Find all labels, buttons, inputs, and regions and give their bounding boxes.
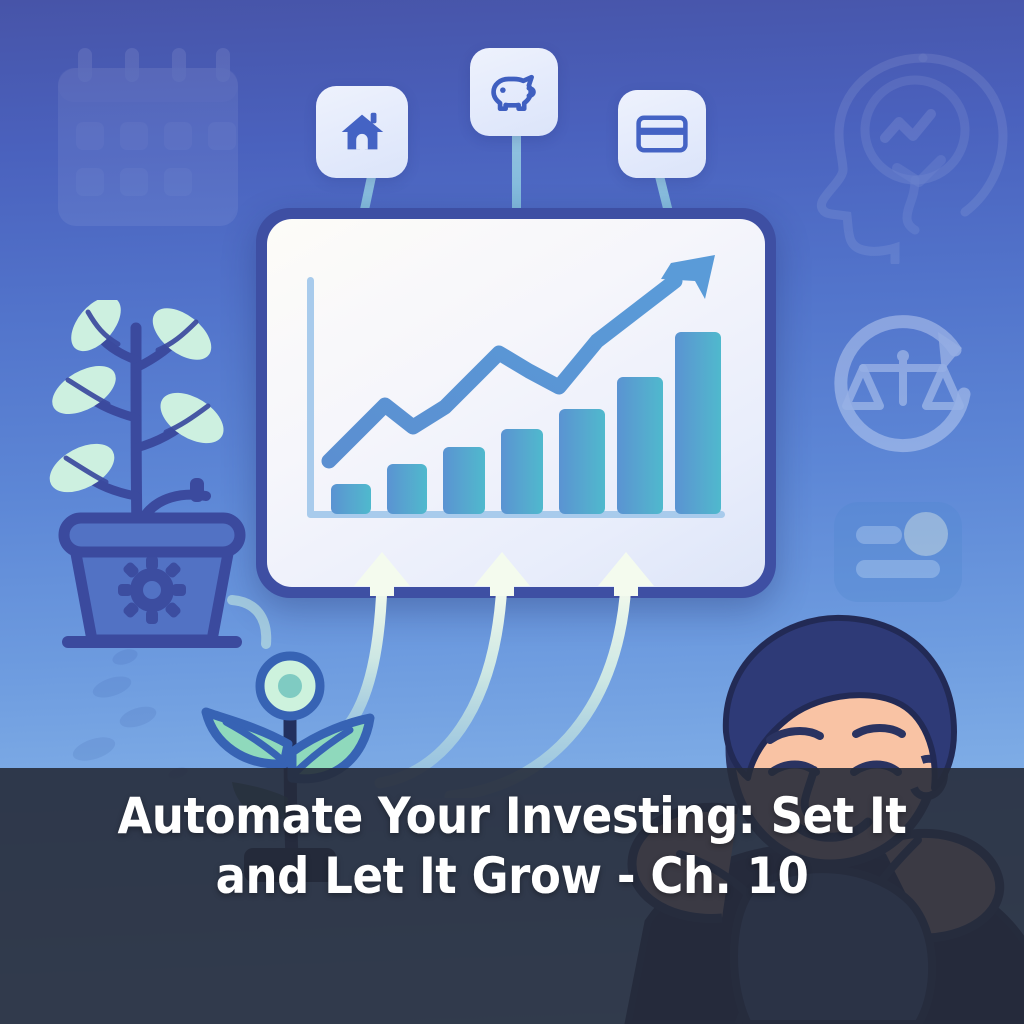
chart-plot-area — [267, 219, 765, 587]
gear-icon — [118, 556, 186, 624]
profile-card-icon — [832, 498, 964, 606]
illustration-canvas: Automate Your Investing: Set It and Let … — [0, 0, 1024, 1024]
credit-card-icon-badge[interactable] — [618, 90, 706, 178]
pin-home[interactable] — [316, 86, 412, 216]
home-icon-badge[interactable] — [316, 86, 408, 178]
home-icon — [335, 105, 389, 159]
piggy-bank-icon — [486, 66, 542, 118]
potted-plant-with-gear — [44, 300, 274, 655]
piggy-bank-icon-badge[interactable] — [470, 48, 558, 136]
brain-head-icon — [797, 44, 1012, 264]
credit-card-icon — [635, 112, 689, 156]
chart-bars — [331, 332, 721, 514]
pin-credit-card[interactable] — [618, 90, 714, 220]
rebalance-icon — [818, 306, 988, 476]
chart-card[interactable] — [256, 208, 776, 598]
flow-arrow-heads — [354, 552, 654, 596]
calendar-icon — [48, 46, 248, 236]
pin-piggy-bank[interactable] — [466, 48, 566, 218]
page-title: Automate Your Investing: Set It and Let … — [0, 786, 1024, 906]
